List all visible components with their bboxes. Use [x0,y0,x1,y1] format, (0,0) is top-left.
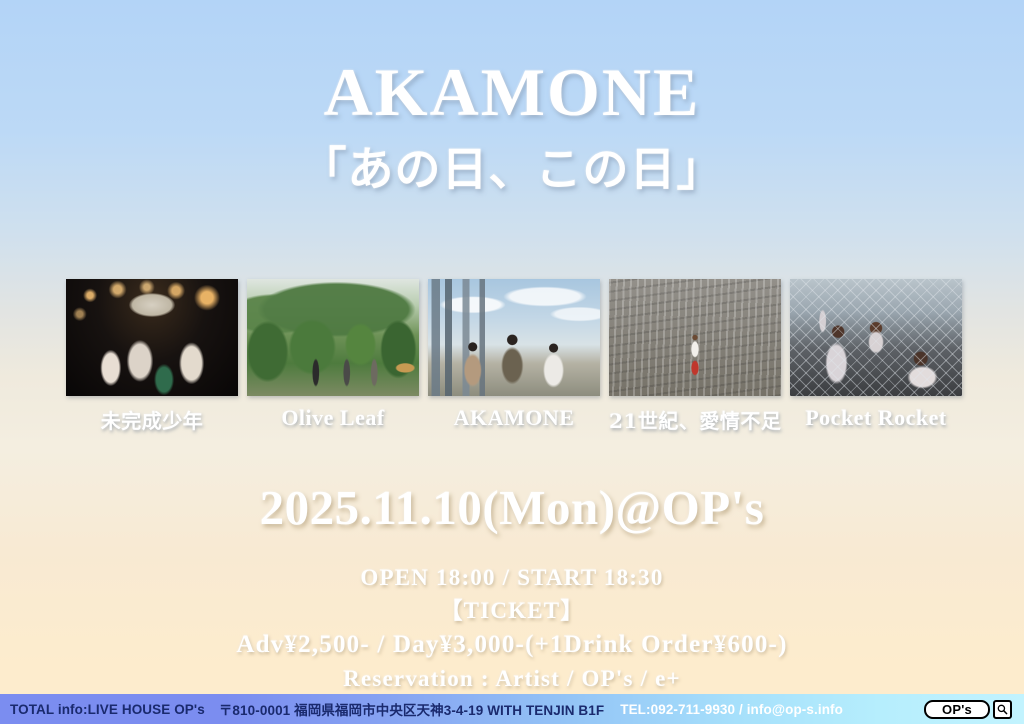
reservation-info: Reservation : Artist / OP's / e+ [0,663,1024,696]
band-item: Olive Leaf [247,279,419,434]
band-name-label: 21世紀、愛情不足 [609,405,781,434]
venue-contact: TEL:092-711-9930 / info@op-s.info [620,702,843,717]
riverside-city-skyline-band-photo [428,279,600,396]
footer-bar: TOTAL info:LIVE HOUSE OP's 〒810-0001 福岡県… [0,694,1024,724]
search-input[interactable]: OP's [924,700,990,719]
band-name-label: Pocket Rocket [790,405,962,431]
band-item: 21世紀、愛情不足 [609,279,781,434]
ticket-heading: 【TICKET】 [0,595,1024,628]
page-title: AKAMONE [0,58,1024,127]
forest-campsite-band-photo [247,279,419,396]
band-item: Pocket Rocket [790,279,962,434]
page-subtitle: 「あの日、この日」 [0,133,1024,199]
live-house-stage-band-photo [66,279,238,396]
title-block: AKAMONE 「あの日、この日」 [0,58,1024,199]
open-start-times: OPEN 18:00 / START 18:30 [0,562,1024,595]
venue-info: TOTAL info:LIVE HOUSE OP's [10,702,205,717]
band-item: AKAMONE [428,279,600,434]
band-lineup: 未完成少年 Olive Leaf AKAMONE [66,279,962,434]
event-details: OPEN 18:00 / START 18:30 【TICKET】 Adv¥2,… [0,562,1024,695]
band-name-label: AKAMONE [428,405,600,431]
op-search-widget[interactable]: OP's [924,700,1012,719]
event-flyer: AKAMONE 「あの日、この日」 未完成少年 Olive Leaf [0,0,1024,724]
chain-link-fence-dusk-band-photo [790,279,962,396]
highway-overpass-waterfront-photo [609,279,781,396]
ticket-price: Adv¥2,500- / Day¥3,000-(+1Drink Order¥60… [0,627,1024,663]
search-icon[interactable] [993,700,1012,719]
band-name-label: 未完成少年 [66,405,238,434]
band-name-label: Olive Leaf [247,405,419,431]
event-date: 2025.11.10(Mon)@OP's [0,479,1024,536]
band-item: 未完成少年 [66,279,238,434]
venue-address: 〒810-0001 福岡県福岡市中央区天神3-4-19 WITH TENJIN … [219,699,604,719]
